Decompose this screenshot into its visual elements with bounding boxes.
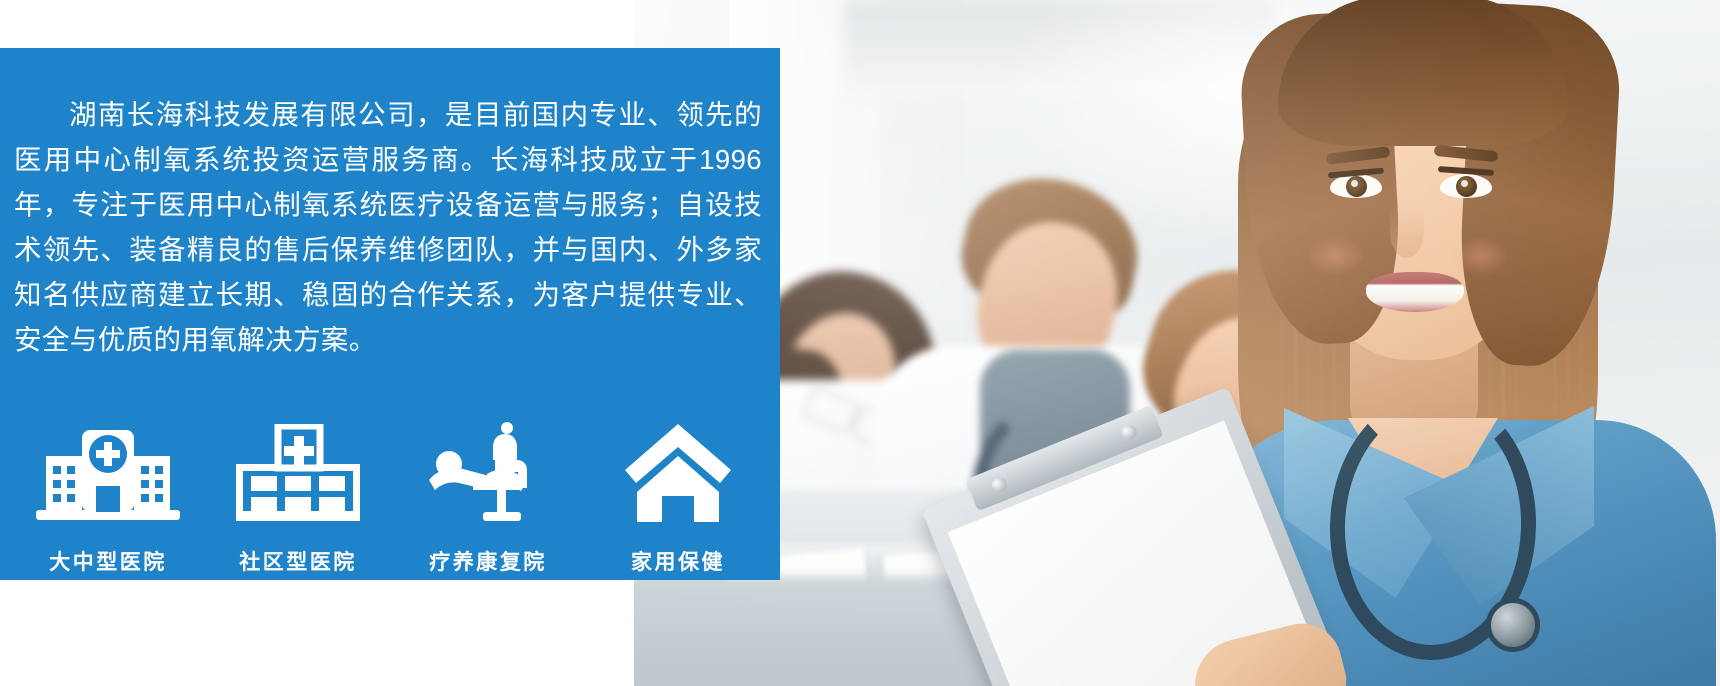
category-item-rehabilitation[interactable]: 疗养康复院 — [404, 420, 572, 576]
info-panel: 湖南长海科技发展有限公司，是目前国内专业、领先的医用中心制氧系统投资运营服务商。… — [0, 48, 780, 580]
nose — [1390, 204, 1424, 258]
category-label: 社区型医院 — [239, 546, 357, 576]
category-item-community-clinic[interactable]: 社区型医院 — [214, 420, 382, 576]
category-label: 大中型医院 — [49, 546, 167, 576]
cheek-right — [1452, 236, 1510, 276]
category-label: 家用保健 — [631, 546, 725, 576]
hair-top — [1278, 0, 1568, 146]
eye-right — [1440, 174, 1492, 198]
medical-team-photo — [634, 0, 1720, 686]
category-item-home-health[interactable]: 家用保健 — [594, 420, 762, 576]
rehabilitation-care-icon — [427, 420, 549, 524]
category-icon-row: 大中型医院 — [24, 420, 762, 576]
company-intro-paragraph: 湖南长海科技发展有限公司，是目前国内专业、领先的医用中心制氧系统投资运营服务商。… — [14, 92, 762, 362]
category-item-large-hospital[interactable]: 大中型医院 — [24, 420, 192, 576]
community-clinic-icon — [234, 420, 362, 524]
mouth — [1366, 272, 1464, 312]
promo-banner: 湖南长海科技发展有限公司，是目前国内专业、领先的医用中心制氧系统投资运营服务商。… — [0, 0, 1720, 686]
stethoscope-chestpiece-icon — [1486, 598, 1540, 652]
home-health-icon — [621, 420, 735, 524]
category-label: 疗养康复院 — [429, 546, 547, 576]
cheek-left — [1306, 236, 1364, 276]
hospital-building-icon — [32, 420, 184, 524]
